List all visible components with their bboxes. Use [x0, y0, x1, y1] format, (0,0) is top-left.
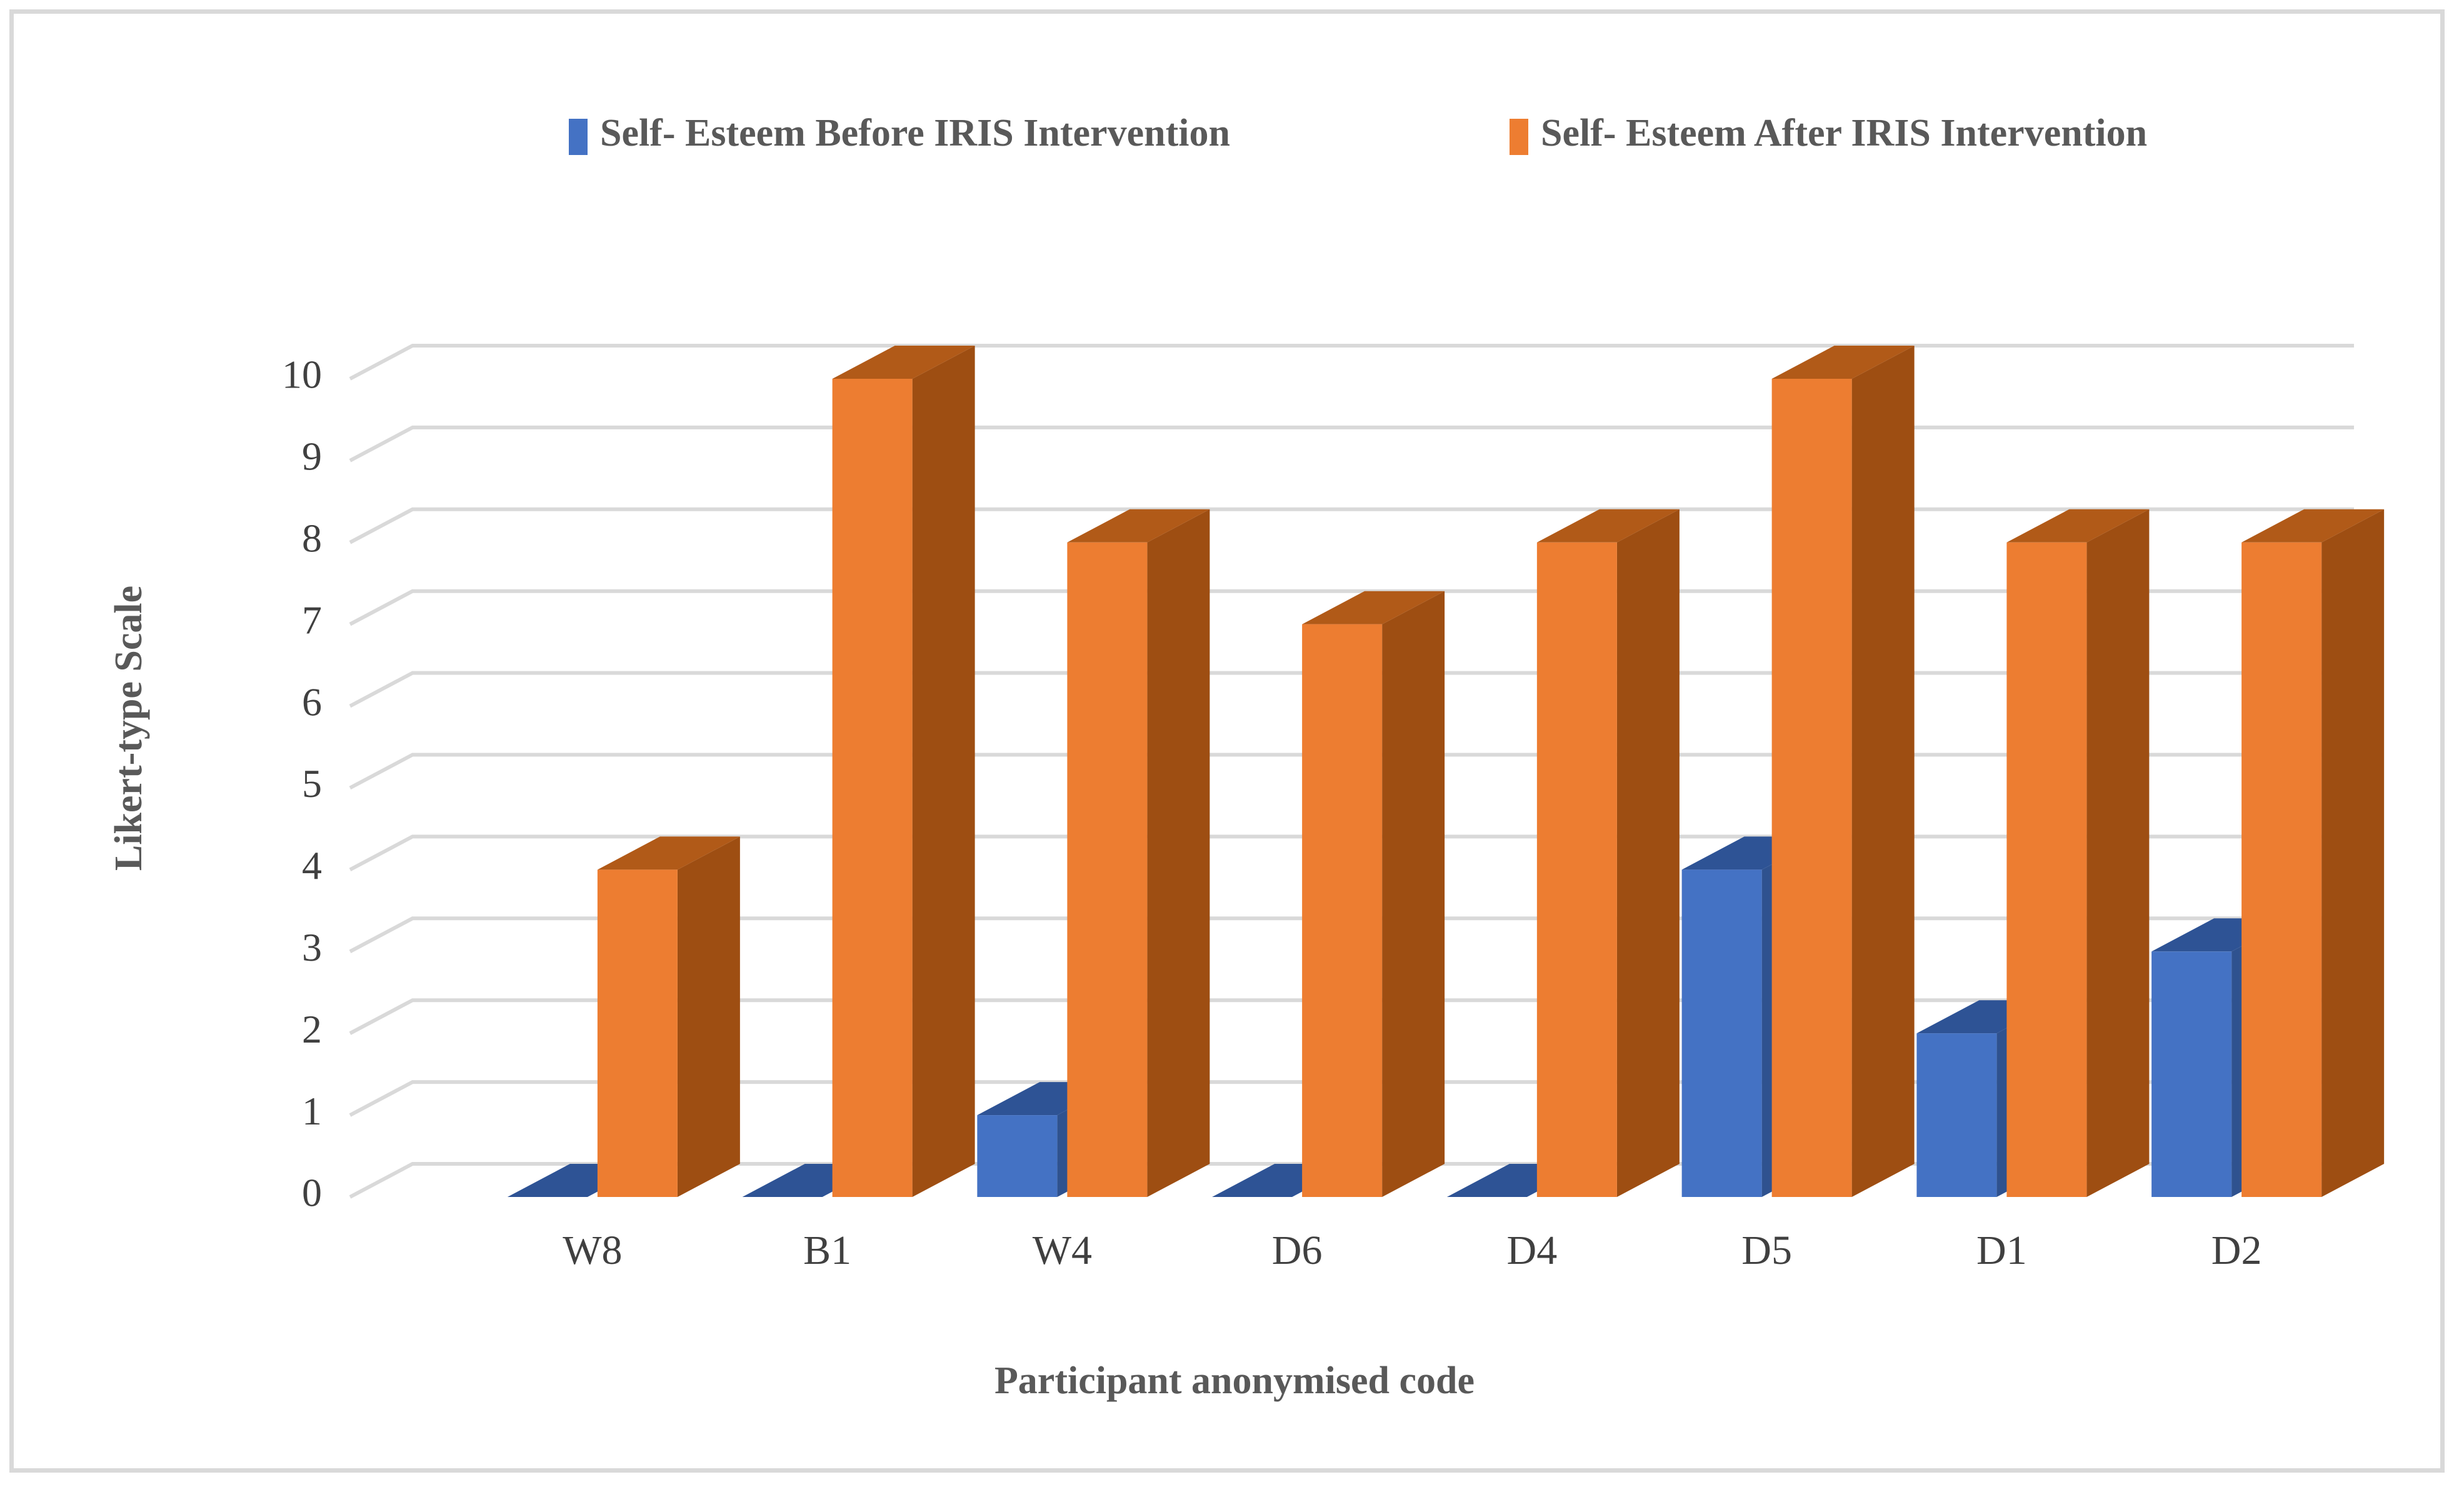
bar-side-face — [913, 346, 975, 1197]
y-tick-label: 10 — [282, 353, 322, 397]
bar-side-face — [2086, 509, 2149, 1197]
bar-front-face — [1916, 1033, 1996, 1197]
bar-front-face — [1302, 624, 1382, 1197]
bar-front-face — [1772, 379, 1852, 1197]
legend: Self- Esteem Before IRIS InterventionSel… — [569, 112, 2147, 155]
bar-front-face — [2241, 543, 2321, 1197]
bar-B1-after[interactable] — [833, 346, 975, 1197]
x-tick-label-W4: W4 — [1033, 1228, 1092, 1273]
bar-side-face — [1382, 591, 1445, 1197]
bar-side-face — [678, 836, 740, 1197]
y-tick-label: 4 — [302, 843, 322, 888]
bar-front-face — [2151, 951, 2231, 1197]
x-tick-label-W8: W8 — [563, 1228, 622, 1273]
bar-front-face — [1537, 543, 1617, 1197]
bar-front-face — [833, 379, 913, 1197]
bar-W8-after[interactable] — [598, 836, 740, 1197]
bar-D6-after[interactable] — [1302, 591, 1445, 1197]
y-tick-label: 2 — [302, 1007, 322, 1051]
bar-front-face — [1682, 869, 1762, 1197]
x-axis-title: Participant anonymised code — [994, 1359, 1475, 1402]
y-tick-label: 5 — [302, 761, 322, 806]
y-tick-label: 7 — [302, 598, 322, 642]
bar-front-face — [977, 1115, 1057, 1197]
y-tick-label: 8 — [302, 516, 322, 560]
bar-side-face — [2321, 509, 2384, 1197]
gridline — [350, 428, 2354, 461]
y-tick-label: 0 — [302, 1171, 322, 1215]
bar-D2-after[interactable] — [2241, 509, 2384, 1197]
bar-front-face — [2006, 543, 2086, 1197]
bar-W4-after[interactable] — [1067, 509, 1209, 1197]
y-tick-label: 3 — [302, 925, 322, 969]
y-axis-title: Likert-type Scale — [108, 586, 150, 871]
bar-chart: 012345678910W8B1W4D6D4D5D1D2Likert-type … — [0, 0, 2464, 1492]
x-tick-labels: W8B1W4D6D4D5D1D2 — [563, 1228, 2261, 1273]
bar-D5-after[interactable] — [1772, 346, 1915, 1197]
y-tick-labels: 012345678910 — [282, 353, 322, 1215]
x-tick-label-D2: D2 — [2211, 1228, 2262, 1273]
chart-canvas: 012345678910W8B1W4D6D4D5D1D2Likert-type … — [0, 0, 2464, 1492]
legend-swatch-before — [569, 119, 588, 155]
gridline — [350, 346, 2354, 379]
x-tick-label-D6: D6 — [1272, 1228, 1323, 1273]
bar-side-face — [1852, 346, 1915, 1197]
y-tick-label: 1 — [302, 1089, 322, 1133]
bar-D4-after[interactable] — [1537, 509, 1680, 1197]
legend-swatch-after — [1510, 119, 1528, 155]
x-tick-label-D4: D4 — [1507, 1228, 1558, 1273]
bar-D1-after[interactable] — [2006, 509, 2149, 1197]
x-tick-label-D1: D1 — [1976, 1228, 2027, 1273]
bars-group — [508, 346, 2384, 1197]
bar-side-face — [1147, 509, 1209, 1197]
legend-label-before: Self- Esteem Before IRIS Intervention — [600, 112, 1230, 154]
y-tick-label: 6 — [302, 679, 322, 724]
legend-label-after: Self- Esteem After IRIS Intervention — [1541, 112, 2147, 154]
bar-front-face — [598, 869, 678, 1197]
bar-front-face — [1067, 543, 1147, 1197]
y-tick-label: 9 — [302, 434, 322, 479]
x-tick-label-B1: B1 — [803, 1228, 851, 1273]
bar-side-face — [1617, 509, 1680, 1197]
x-tick-label-D5: D5 — [1741, 1228, 1792, 1273]
